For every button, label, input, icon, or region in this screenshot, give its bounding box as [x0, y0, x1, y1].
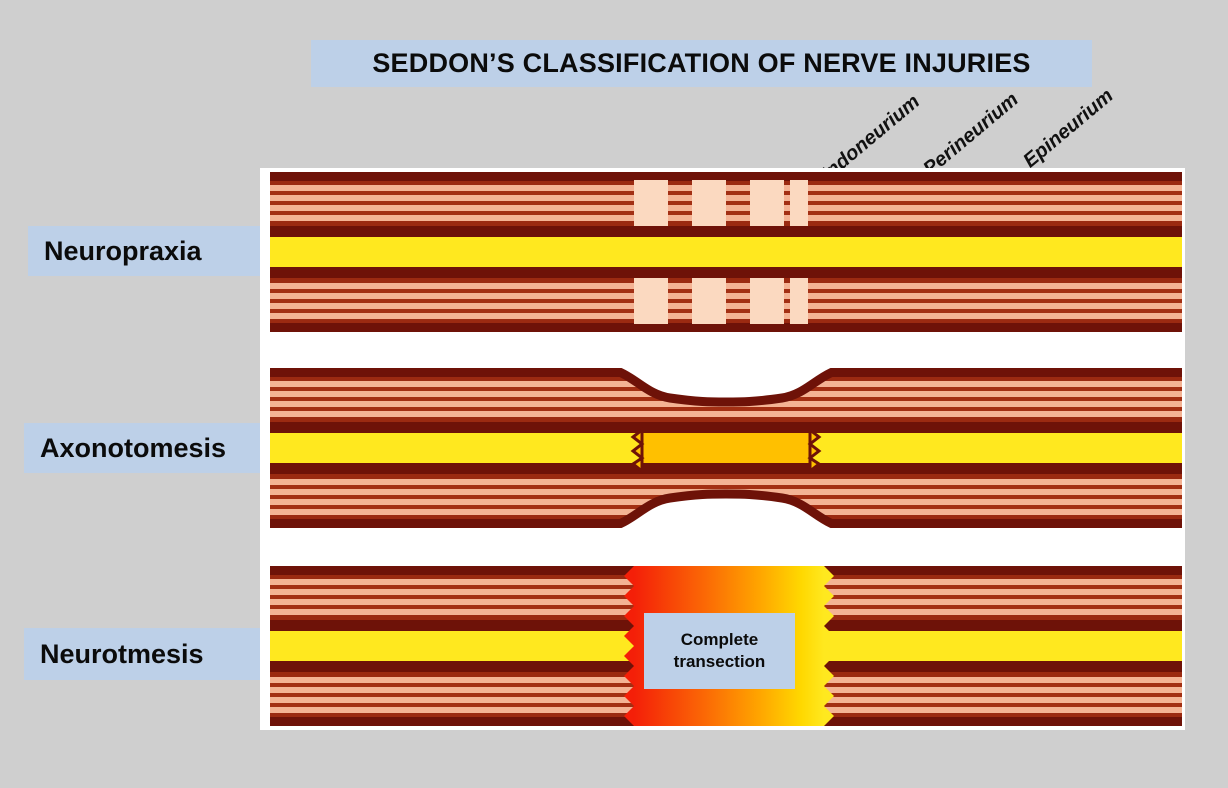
fascicle-band-top [270, 172, 1182, 234]
demyelination-block [750, 278, 784, 324]
category-label-neuropraxia: Neuropraxia [28, 226, 260, 276]
demyelination-block [692, 278, 726, 324]
callout-line-1: Complete [681, 629, 758, 651]
page-title-banner: SEDDON’S CLASSIFICATION OF NERVE INJURIE… [311, 40, 1092, 87]
fascicle-band-bottom [270, 270, 1182, 332]
category-label-axonotomesis: Axonotomesis [24, 423, 260, 473]
yellow-axon-core [270, 234, 1182, 270]
complete-transection-callout: Complete transection [644, 613, 795, 689]
category-label-text: Axonotomesis [40, 433, 226, 464]
callout-line-2: transection [674, 651, 766, 673]
nerve-panel-neuropraxia [270, 172, 1182, 332]
axon-break-edges [270, 368, 1182, 528]
demyelination-block [634, 180, 668, 226]
category-label-text: Neurotmesis [40, 639, 204, 670]
demyelination-block [790, 278, 808, 324]
demyelination-block [692, 180, 726, 226]
annotation-label-epineurium: Epineurium [1019, 85, 1118, 173]
demyelination-block [750, 180, 784, 226]
category-label-neurotmesis: Neurotmesis [24, 628, 262, 680]
nerve-panel-axonotomesis [270, 368, 1182, 528]
category-label-text: Neuropraxia [44, 236, 202, 267]
demyelination-block [790, 180, 808, 226]
page-title: SEDDON’S CLASSIFICATION OF NERVE INJURIE… [372, 48, 1030, 79]
demyelination-block [634, 278, 668, 324]
